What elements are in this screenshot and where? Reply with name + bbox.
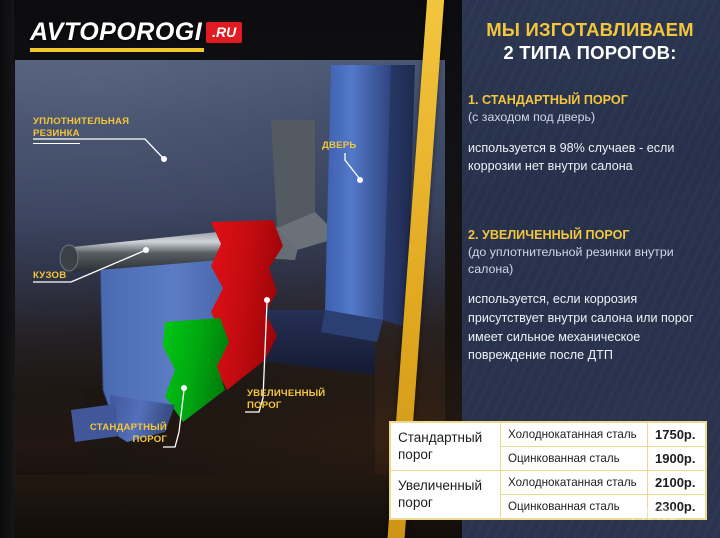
- headline-line1: МЫ ИЗГОТАВЛИВАЕМ: [468, 18, 712, 41]
- headline-line2: 2 ТИПА ПОРОГОВ:: [468, 41, 712, 64]
- section-standard-title: 1. СТАНДАРТНЫЙ ПОРОГ: [468, 92, 716, 109]
- price-material: Оцинкованная сталь: [501, 447, 648, 471]
- label-extended-sill-line2: ПОРОГ: [247, 400, 282, 411]
- label-sealing-rubber-line2: РЕЗИНКА: [33, 128, 80, 143]
- label-sealing-rubber: УПЛОТНИТЕЛЬНАЯ РЕЗИНКА: [33, 116, 129, 144]
- section-extended: 2. УВЕЛИЧЕННЫЙ ПОРОГ (до уплотнительной …: [468, 227, 716, 365]
- label-standard-sill-line2: ПОРОГ: [132, 434, 167, 445]
- sill-diagram: УПЛОТНИТЕЛЬНАЯ РЕЗИНКА КУЗОВ ДВЕРЬ СТАНД…: [15, 60, 445, 475]
- label-door: ДВЕРЬ: [322, 140, 356, 152]
- label-sealing-rubber-line1: УПЛОТНИТЕЛЬНАЯ: [33, 116, 129, 127]
- price-table: Стандартный порог Холоднокатанная сталь …: [389, 421, 707, 520]
- section-extended-subtitle: (до уплотнительной резинки внутри салона…: [468, 244, 716, 277]
- price-material: Холоднокатанная сталь: [501, 471, 648, 495]
- brand-logo[interactable]: AVTOPOROGI.RU: [30, 20, 242, 52]
- label-extended-sill-line1: УВЕЛИЧЕННЫЙ: [247, 388, 325, 399]
- price-value: 2300р.: [648, 495, 706, 519]
- logo-wordmark: AVTOPOROGI: [30, 20, 202, 45]
- price-value: 1750р.: [648, 423, 706, 447]
- label-body-text: КУЗОВ: [33, 270, 66, 281]
- price-material: Оцинкованная сталь: [501, 495, 648, 519]
- price-value: 2100р.: [648, 471, 706, 495]
- price-row-name: Увеличенный порог: [391, 471, 501, 519]
- label-door-text: ДВЕРЬ: [322, 140, 356, 151]
- price-material: Холоднокатанная сталь: [501, 423, 648, 447]
- section-standard-subtitle: (с заходом под дверь): [468, 109, 716, 126]
- section-standard-body: используется в 98% случаев - если корроз…: [468, 139, 716, 176]
- promo-banner: УПЛОТНИТЕЛЬНАЯ РЕЗИНКА КУЗОВ ДВЕРЬ СТАНД…: [0, 0, 720, 538]
- table-row: Стандартный порог Холоднокатанная сталь …: [391, 423, 706, 447]
- section-extended-body: используется, если коррозия присутствует…: [468, 290, 716, 365]
- table-row: Увеличенный порог Холоднокатанная сталь …: [391, 471, 706, 495]
- logo-underline-bar: [30, 48, 204, 52]
- price-row-name: Стандартный порог: [391, 423, 501, 471]
- label-body: КУЗОВ: [33, 270, 66, 282]
- price-value: 1900р.: [648, 447, 706, 471]
- label-extended-sill: УВЕЛИЧЕННЫЙ ПОРОГ: [247, 388, 325, 413]
- label-standard-sill-line1: СТАНДАРТНЫЙ: [90, 422, 167, 433]
- logo-tld-badge: .RU: [206, 22, 242, 43]
- section-standard: 1. СТАНДАРТНЫЙ ПОРОГ (с заходом под двер…: [468, 92, 716, 176]
- headline: МЫ ИЗГОТАВЛИВАЕМ 2 ТИПА ПОРОГОВ:: [468, 18, 712, 64]
- section-extended-title: 2. УВЕЛИЧЕННЫЙ ПОРОГ: [468, 227, 716, 244]
- label-standard-sill: СТАНДАРТНЫЙ ПОРОГ: [79, 422, 167, 447]
